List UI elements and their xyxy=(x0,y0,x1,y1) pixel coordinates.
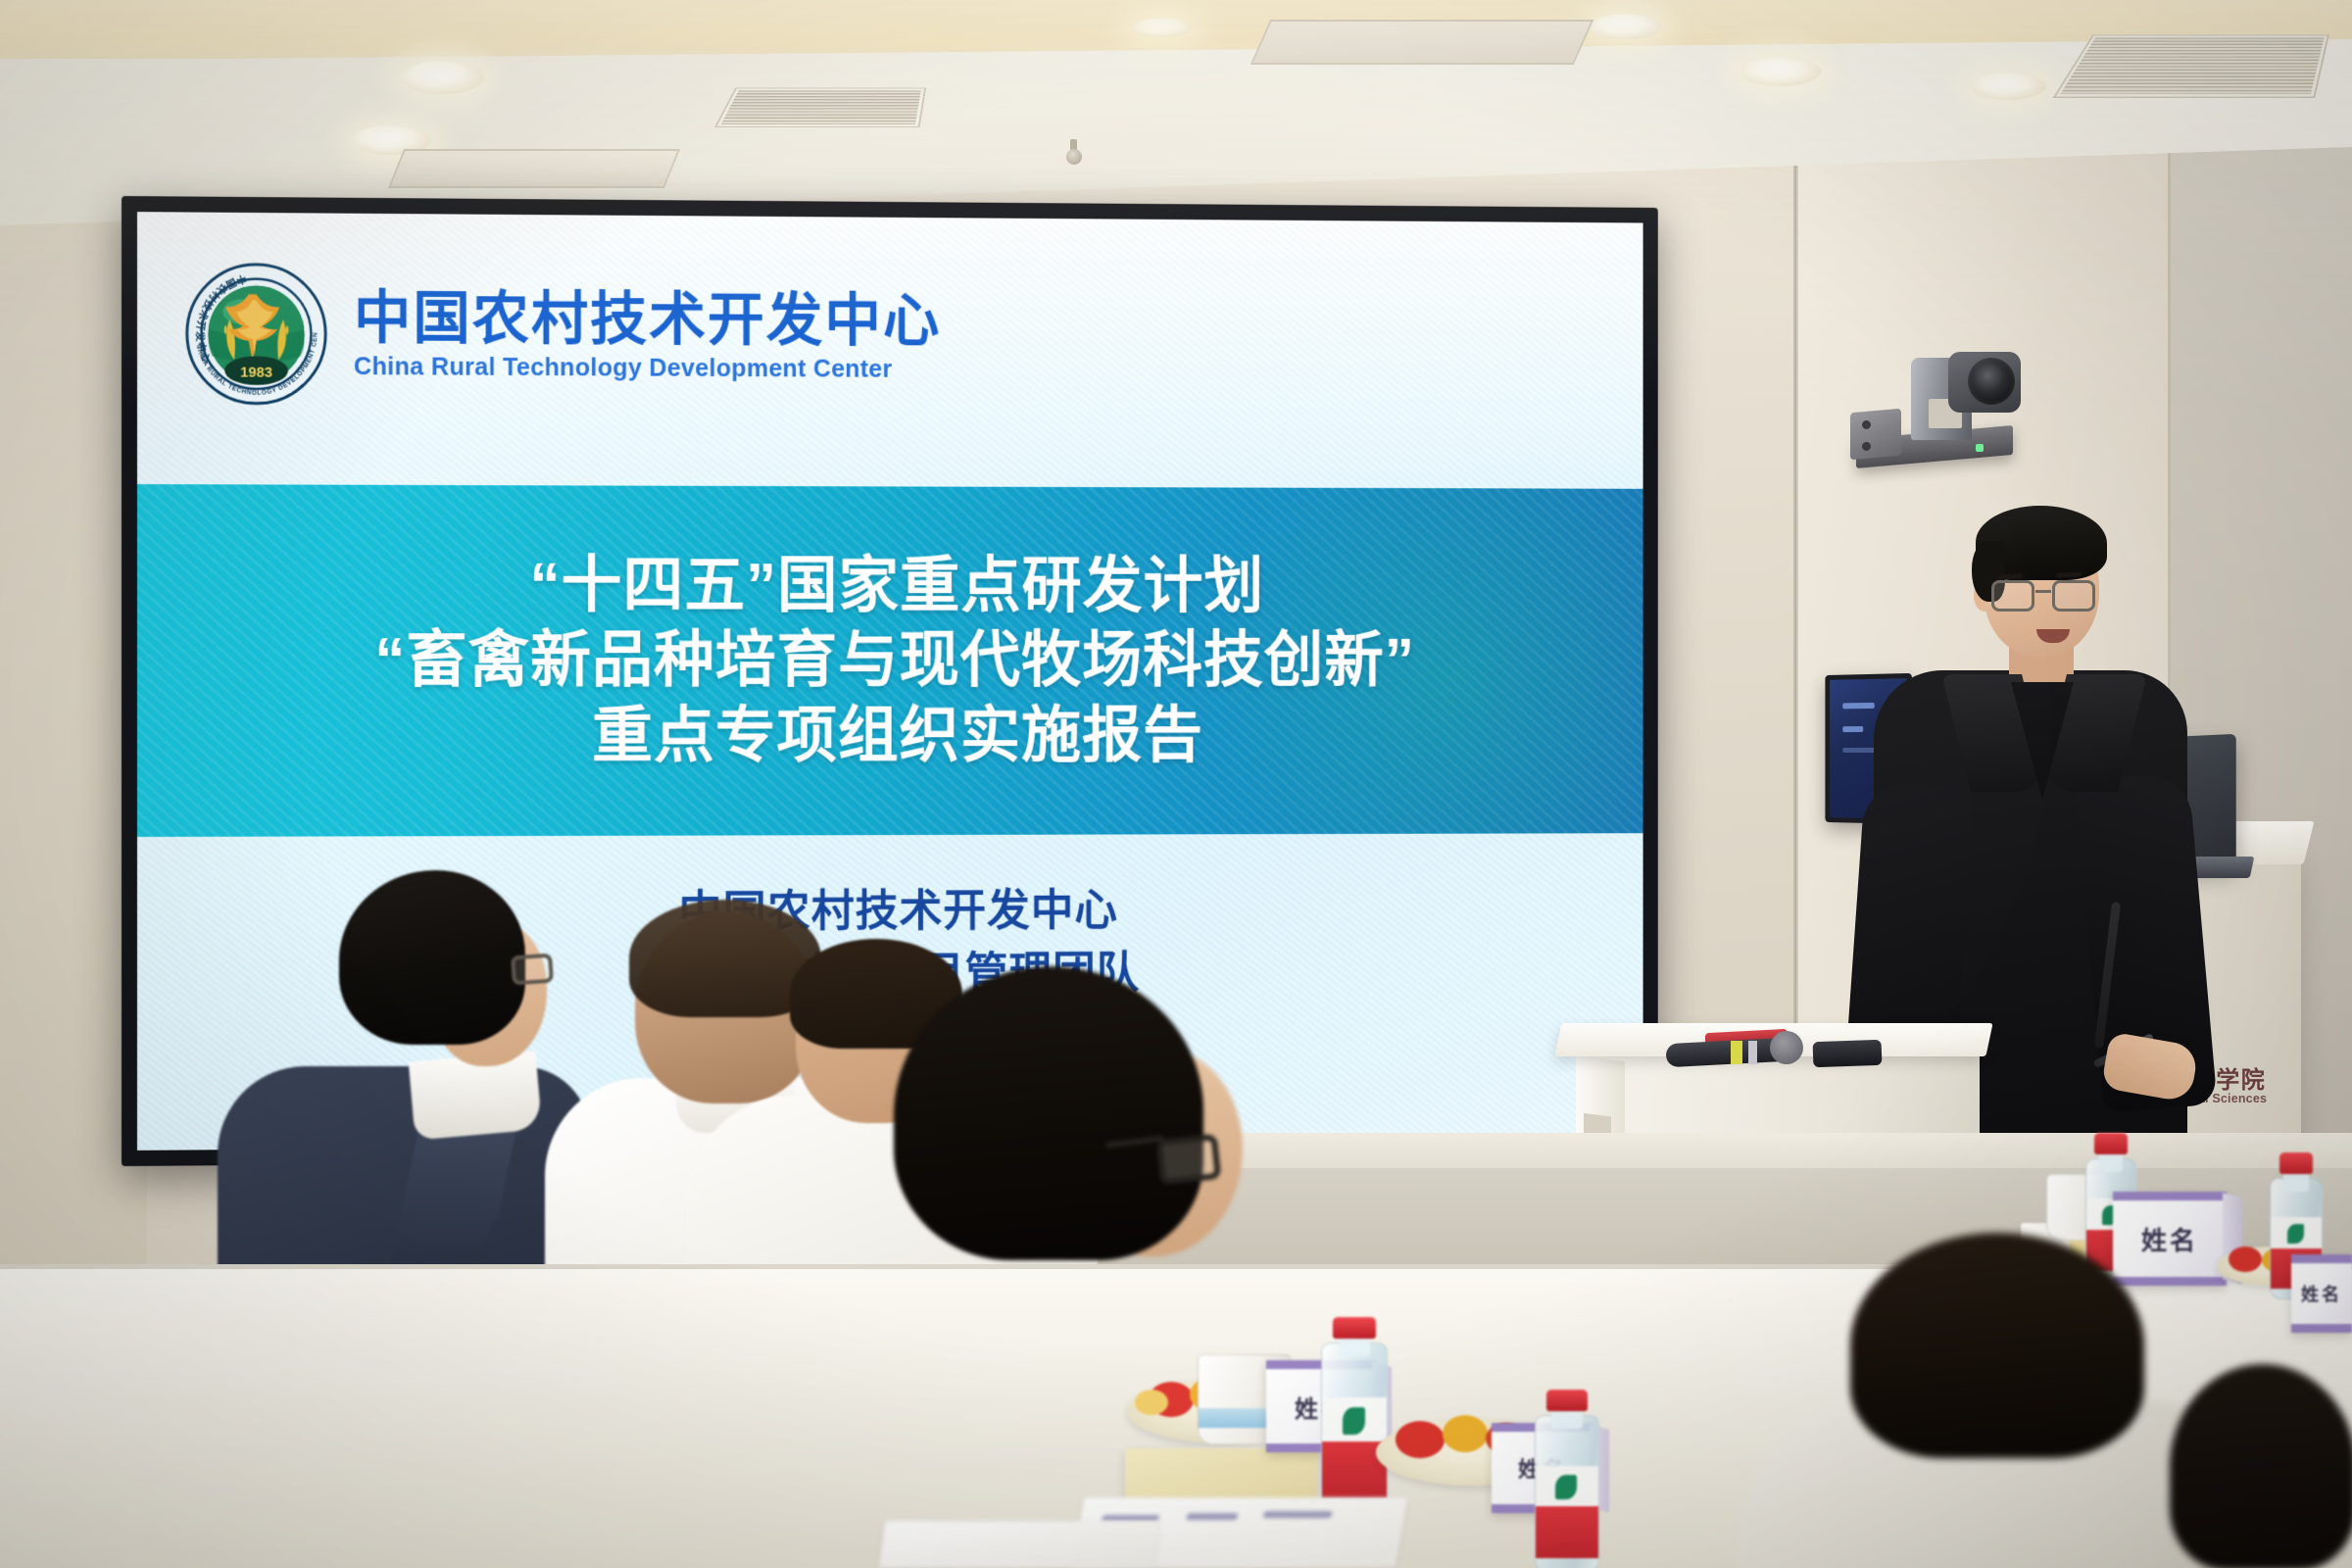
slide-title-line-1: “十四五”国家重点研发计划 xyxy=(529,550,1264,621)
microphone-band xyxy=(1731,1041,1742,1064)
handout-text-line xyxy=(1186,1513,1238,1520)
handout-text-line xyxy=(1263,1511,1333,1518)
bottle-cap xyxy=(1546,1390,1588,1411)
downlight-icon xyxy=(1133,18,1192,37)
conference-room-photo: 1983 中国农村技术开发中心 CHINA RURAL TECHNOLOGY D… xyxy=(0,0,2352,1568)
fruit-piece xyxy=(1443,1415,1488,1452)
svg-text:1983: 1983 xyxy=(240,366,272,381)
downlight-icon xyxy=(1740,57,1821,86)
glasses-lens-right xyxy=(2052,580,2095,612)
org-name-en: China Rural Technology Development Cente… xyxy=(354,355,941,382)
glasses-bridge xyxy=(2035,590,2051,593)
audience-foreground-hair xyxy=(894,966,1203,1260)
slide-header: 1983 中国农村技术开发中心 CHINA RURAL TECHNOLOGY D… xyxy=(184,261,941,409)
bottle-cap xyxy=(2094,1133,2127,1154)
camera-wall-plate xyxy=(1850,409,1901,461)
hvac-ceiling-vent xyxy=(2056,36,2327,97)
handout-paper[interactable] xyxy=(879,1521,1160,1568)
camera-screw xyxy=(1862,442,1871,451)
ptz-conference-camera xyxy=(1850,338,2036,495)
ceiling-access-panel xyxy=(388,149,680,188)
water-bottle[interactable] xyxy=(1535,1390,1599,1568)
china-rural-technology-development-center-emblem: 1983 中国农村技术开发中心 CHINA RURAL TECHNOLOGY D… xyxy=(184,261,328,406)
slide-title-line-3: 重点专项组织实施报告 xyxy=(592,700,1203,771)
presenter-glasses-icon xyxy=(1991,580,2105,613)
glasses-lens-left xyxy=(1991,580,2034,612)
ceiling-access-panel xyxy=(1250,20,1593,65)
downlight-icon xyxy=(1590,14,1662,39)
downlight-icon xyxy=(400,61,484,94)
audience-far-right-head xyxy=(2170,1364,2352,1568)
bottle-body xyxy=(1321,1343,1388,1513)
fruit-piece xyxy=(1135,1390,1168,1415)
fire-sprinkler-head xyxy=(1066,149,1082,165)
camera-screw xyxy=(1862,420,1871,429)
fruit-piece xyxy=(2229,1247,2262,1272)
audience-navy-suit-hair xyxy=(339,870,525,1045)
name-card: 姓名 xyxy=(2291,1254,2352,1333)
downlight-icon xyxy=(1970,73,2046,100)
water-bottle[interactable] xyxy=(1321,1317,1388,1513)
bottle-logo-leaf-icon xyxy=(1343,1407,1364,1435)
name-card: 姓名 xyxy=(2113,1192,2227,1286)
slide-org-names: 中国农村技术开发中心 China Rural Technology Develo… xyxy=(354,289,941,382)
org-name-cn: 中国农村技术开发中心 xyxy=(354,289,941,350)
lavalier-transmitter[interactable] xyxy=(1813,1040,1883,1067)
bottle-label-red xyxy=(1536,1506,1598,1559)
microphone-head-icon xyxy=(1770,1031,1803,1064)
slide-title-band: “十四五”国家重点研发计划 “畜禽新品种培育与现代牧场科技创新” 重点专项组织实… xyxy=(137,484,1643,837)
audience-glasses-icon xyxy=(511,954,554,986)
slide-title-lines: “十四五”国家重点研发计划 “畜禽新品种培育与现代牧场科技创新” 重点专项组织实… xyxy=(137,484,1643,837)
name-card-text: 姓名 xyxy=(2113,1192,2227,1286)
audience-foreground-glasses-icon xyxy=(1156,1134,1221,1185)
camera-lens-icon xyxy=(1968,358,2015,405)
audience-right-hair xyxy=(1850,1233,2144,1458)
bottle-body xyxy=(1535,1415,1599,1568)
name-card-text: 姓名 xyxy=(2291,1254,2352,1333)
bottle-cap xyxy=(2279,1152,2314,1174)
microphone-band xyxy=(1748,1041,1757,1064)
fruit-piece xyxy=(1396,1421,1445,1458)
bottle-cap xyxy=(1333,1317,1376,1339)
camera-status-led xyxy=(1976,444,1984,452)
slide-title-line-2: “畜禽新品种培育与现代牧场科技创新” xyxy=(374,625,1415,697)
hvac-ceiling-vent xyxy=(717,89,924,126)
